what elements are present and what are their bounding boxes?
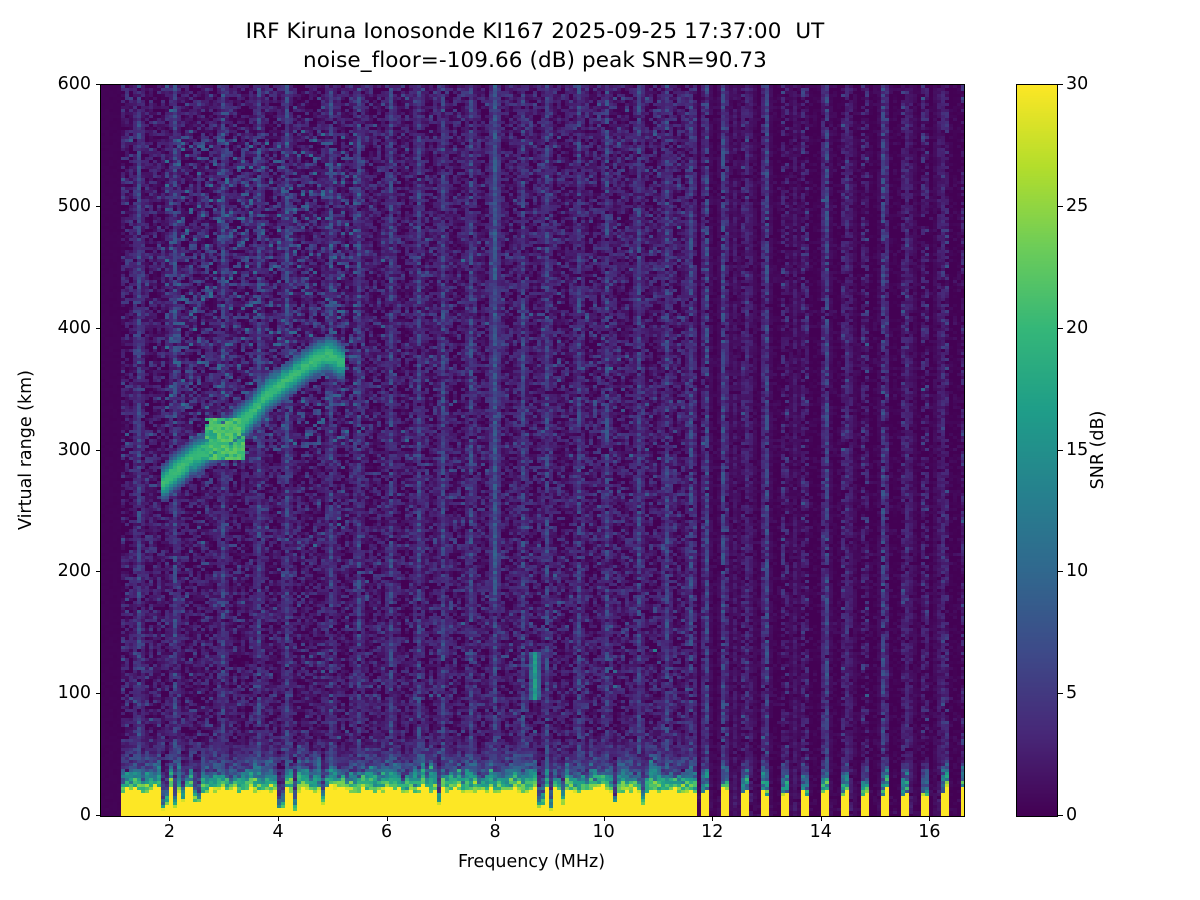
ionogram-figure: IRF Kiruna Ionosonde KI167 2025-09-25 17… xyxy=(0,0,1200,900)
y-tick-mark xyxy=(96,693,101,694)
y-tick-mark xyxy=(96,571,101,572)
title-line-2: noise_floor=-109.66 (dB) peak SNR=90.73 xyxy=(0,47,1070,76)
colorbar-tick-label: 15 xyxy=(1066,440,1088,460)
ionogram-heatmap[interactable] xyxy=(101,85,964,816)
colorbar-tick-label: 30 xyxy=(1066,74,1088,94)
y-tick-mark xyxy=(96,328,101,329)
colorbar-tick-mark xyxy=(1058,815,1063,816)
x-tick-label: 12 xyxy=(701,822,723,842)
colorbar-tick-label: 20 xyxy=(1066,318,1088,338)
colorbar-tick-mark xyxy=(1058,693,1063,694)
colorbar-tick-mark xyxy=(1058,328,1063,329)
colorbar-tick-mark xyxy=(1058,206,1063,207)
plot-area[interactable] xyxy=(100,84,965,817)
x-tick-mark xyxy=(169,816,170,821)
colorbar-tick-label: 25 xyxy=(1066,196,1088,216)
y-tick-mark xyxy=(96,84,101,85)
x-tick-label: 16 xyxy=(918,822,940,842)
colorbar-tick-mark xyxy=(1058,571,1063,572)
x-tick-label: 10 xyxy=(593,822,615,842)
colorbar[interactable] xyxy=(1016,84,1058,817)
figure-title: IRF Kiruna Ionosonde KI167 2025-09-25 17… xyxy=(0,18,1070,75)
y-tick-label: 200 xyxy=(58,561,91,581)
y-tick-label: 100 xyxy=(58,683,91,703)
x-tick-mark xyxy=(712,816,713,821)
colorbar-gradient xyxy=(1017,85,1057,816)
x-tick-mark xyxy=(387,816,388,821)
colorbar-tick-label: 0 xyxy=(1066,805,1077,825)
x-tick-label: 14 xyxy=(810,822,832,842)
y-tick-mark xyxy=(96,206,101,207)
y-tick-label: 400 xyxy=(58,318,91,338)
x-tick-mark xyxy=(929,816,930,821)
x-tick-mark xyxy=(821,816,822,821)
colorbar-tick-label: 10 xyxy=(1066,561,1088,581)
x-tick-label: 8 xyxy=(490,822,501,842)
y-tick-label: 0 xyxy=(80,805,91,825)
y-tick-label: 600 xyxy=(58,74,91,94)
y-tick-mark xyxy=(96,450,101,451)
colorbar-label: SNR (dB) xyxy=(1088,410,1108,489)
y-tick-label: 300 xyxy=(58,440,91,460)
colorbar-tick-label: 5 xyxy=(1066,683,1077,703)
colorbar-tick-mark xyxy=(1058,450,1063,451)
x-tick-label: 4 xyxy=(272,822,283,842)
x-tick-label: 2 xyxy=(164,822,175,842)
x-tick-mark xyxy=(604,816,605,821)
y-tick-label: 500 xyxy=(58,196,91,216)
x-axis-label: Frequency (MHz) xyxy=(100,852,963,872)
x-tick-label: 6 xyxy=(381,822,392,842)
x-tick-mark xyxy=(278,816,279,821)
y-axis-label: Virtual range (km) xyxy=(16,369,36,529)
title-line-1: IRF Kiruna Ionosonde KI167 2025-09-25 17… xyxy=(0,18,1070,47)
y-tick-mark xyxy=(96,815,101,816)
colorbar-tick-mark xyxy=(1058,84,1063,85)
x-tick-mark xyxy=(495,816,496,821)
